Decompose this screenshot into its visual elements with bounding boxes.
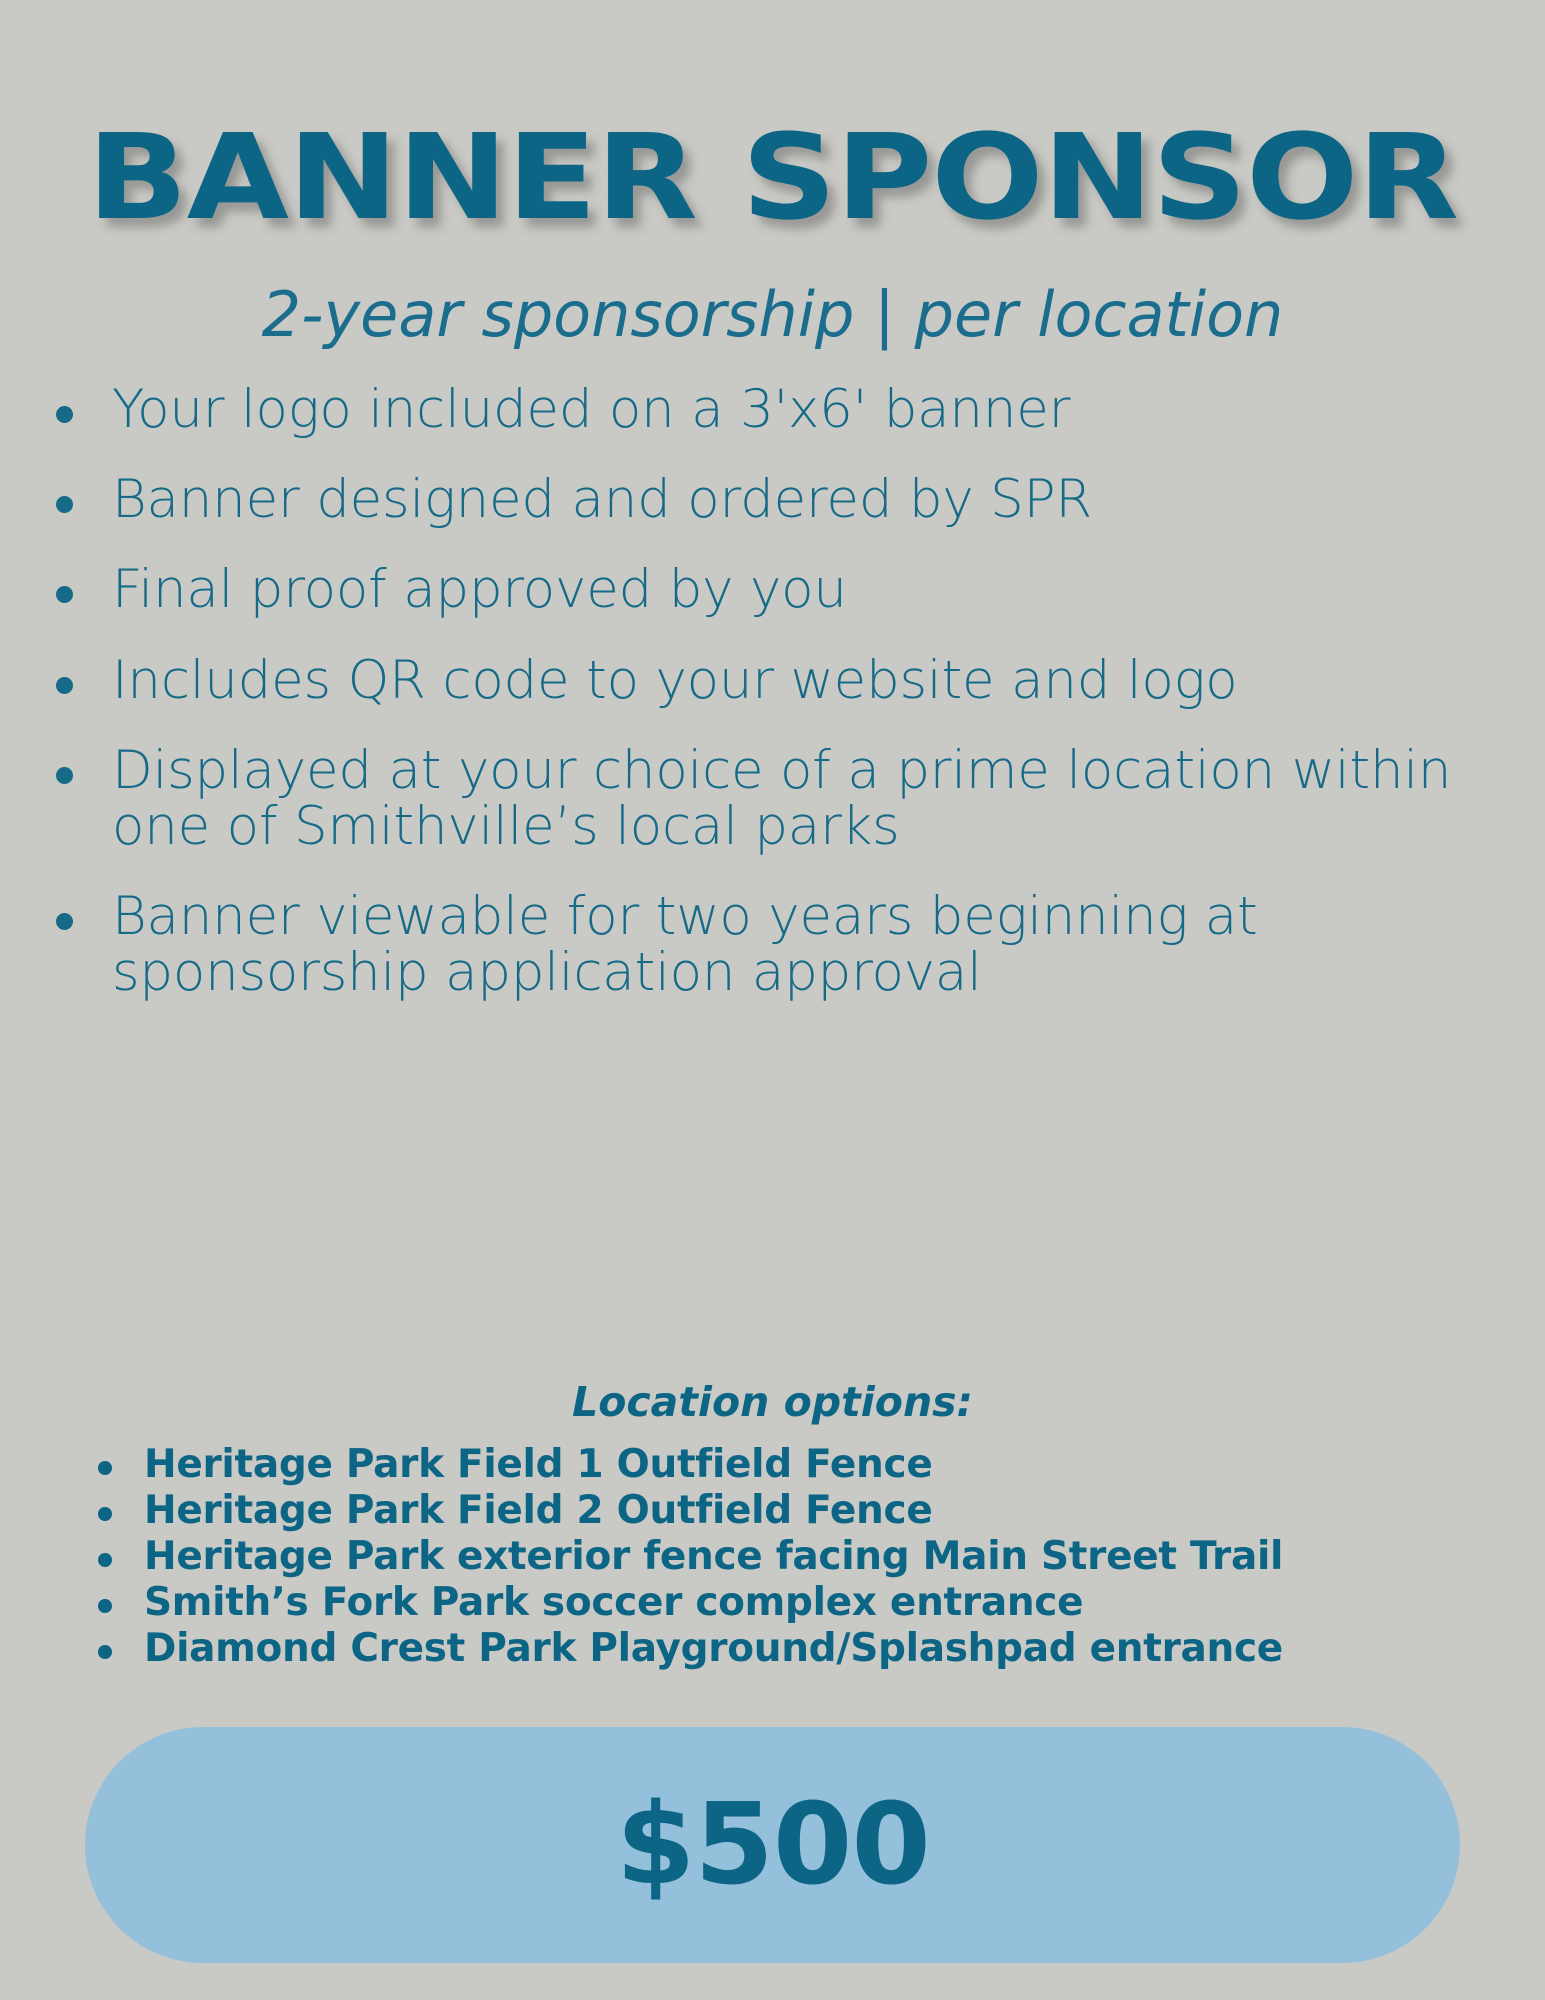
list-item: Banner viewable for two years beginning … bbox=[48, 889, 1508, 1001]
location-options-list: Heritage Park Field 1 Outfield Fence Her… bbox=[90, 1443, 1510, 1673]
location-options-heading: Location options: bbox=[0, 1378, 1545, 1426]
location-text: Heritage Park Field 2 Outfield Fence bbox=[144, 1488, 933, 1533]
benefit-text: Banner designed and ordered by SPR bbox=[112, 469, 1092, 530]
list-item: Heritage Park Field 2 Outfield Fence bbox=[90, 1489, 1510, 1533]
title-block: BANNER SPONSOR 2-year sponsorship | per … bbox=[0, 118, 1545, 346]
location-text: Smith’s Fork Park soccer complex entranc… bbox=[144, 1580, 1083, 1625]
list-item: Includes QR code to your website and log… bbox=[48, 653, 1508, 709]
list-item: Banner designed and ordered by SPR bbox=[48, 472, 1508, 528]
location-text: Heritage Park exterior fence facing Main… bbox=[144, 1534, 1283, 1579]
bullet-icon bbox=[98, 1599, 112, 1613]
bullet-icon bbox=[56, 406, 73, 423]
bullet-icon bbox=[98, 1553, 112, 1567]
page-title: BANNER SPONSOR bbox=[0, 118, 1545, 236]
location-text: Heritage Park Field 1 Outfield Fence bbox=[144, 1442, 933, 1487]
bullet-icon bbox=[98, 1645, 112, 1659]
bullet-icon bbox=[98, 1507, 112, 1521]
benefit-text: Banner viewable for two years beginning … bbox=[112, 886, 1258, 1003]
list-item: Diamond Crest Park Playground/Splashpad … bbox=[90, 1627, 1510, 1671]
price-value: $500 bbox=[616, 1789, 930, 1901]
banner-sponsor-flyer: BANNER SPONSOR 2-year sponsorship | per … bbox=[0, 0, 1545, 2000]
list-item: Your logo included on a 3'x6' banner bbox=[48, 382, 1508, 438]
bullet-icon bbox=[98, 1461, 112, 1475]
list-item: Heritage Park Field 1 Outfield Fence bbox=[90, 1443, 1510, 1487]
price-badge: $500 bbox=[85, 1727, 1460, 1963]
list-item: Final proof approved by you bbox=[48, 562, 1508, 618]
benefit-text: Final proof approved by you bbox=[112, 559, 847, 620]
benefit-text: Your logo included on a 3'x6' banner bbox=[112, 379, 1070, 440]
benefit-text: Displayed at your choice of a prime loca… bbox=[112, 740, 1451, 857]
bullet-icon bbox=[56, 913, 73, 930]
location-text: Diamond Crest Park Playground/Splashpad … bbox=[144, 1626, 1283, 1671]
bullet-icon bbox=[56, 767, 73, 784]
page-subtitle: 2-year sponsorship | per location bbox=[0, 284, 1545, 346]
bullet-icon bbox=[56, 496, 73, 513]
bullet-icon bbox=[56, 586, 73, 603]
list-item: Displayed at your choice of a prime loca… bbox=[48, 743, 1508, 855]
list-item: Smith’s Fork Park soccer complex entranc… bbox=[90, 1581, 1510, 1625]
benefit-text: Includes QR code to your website and log… bbox=[112, 650, 1237, 711]
list-item: Heritage Park exterior fence facing Main… bbox=[90, 1535, 1510, 1579]
bullet-icon bbox=[56, 677, 73, 694]
benefits-list: Your logo included on a 3'x6' banner Ban… bbox=[48, 382, 1508, 1001]
